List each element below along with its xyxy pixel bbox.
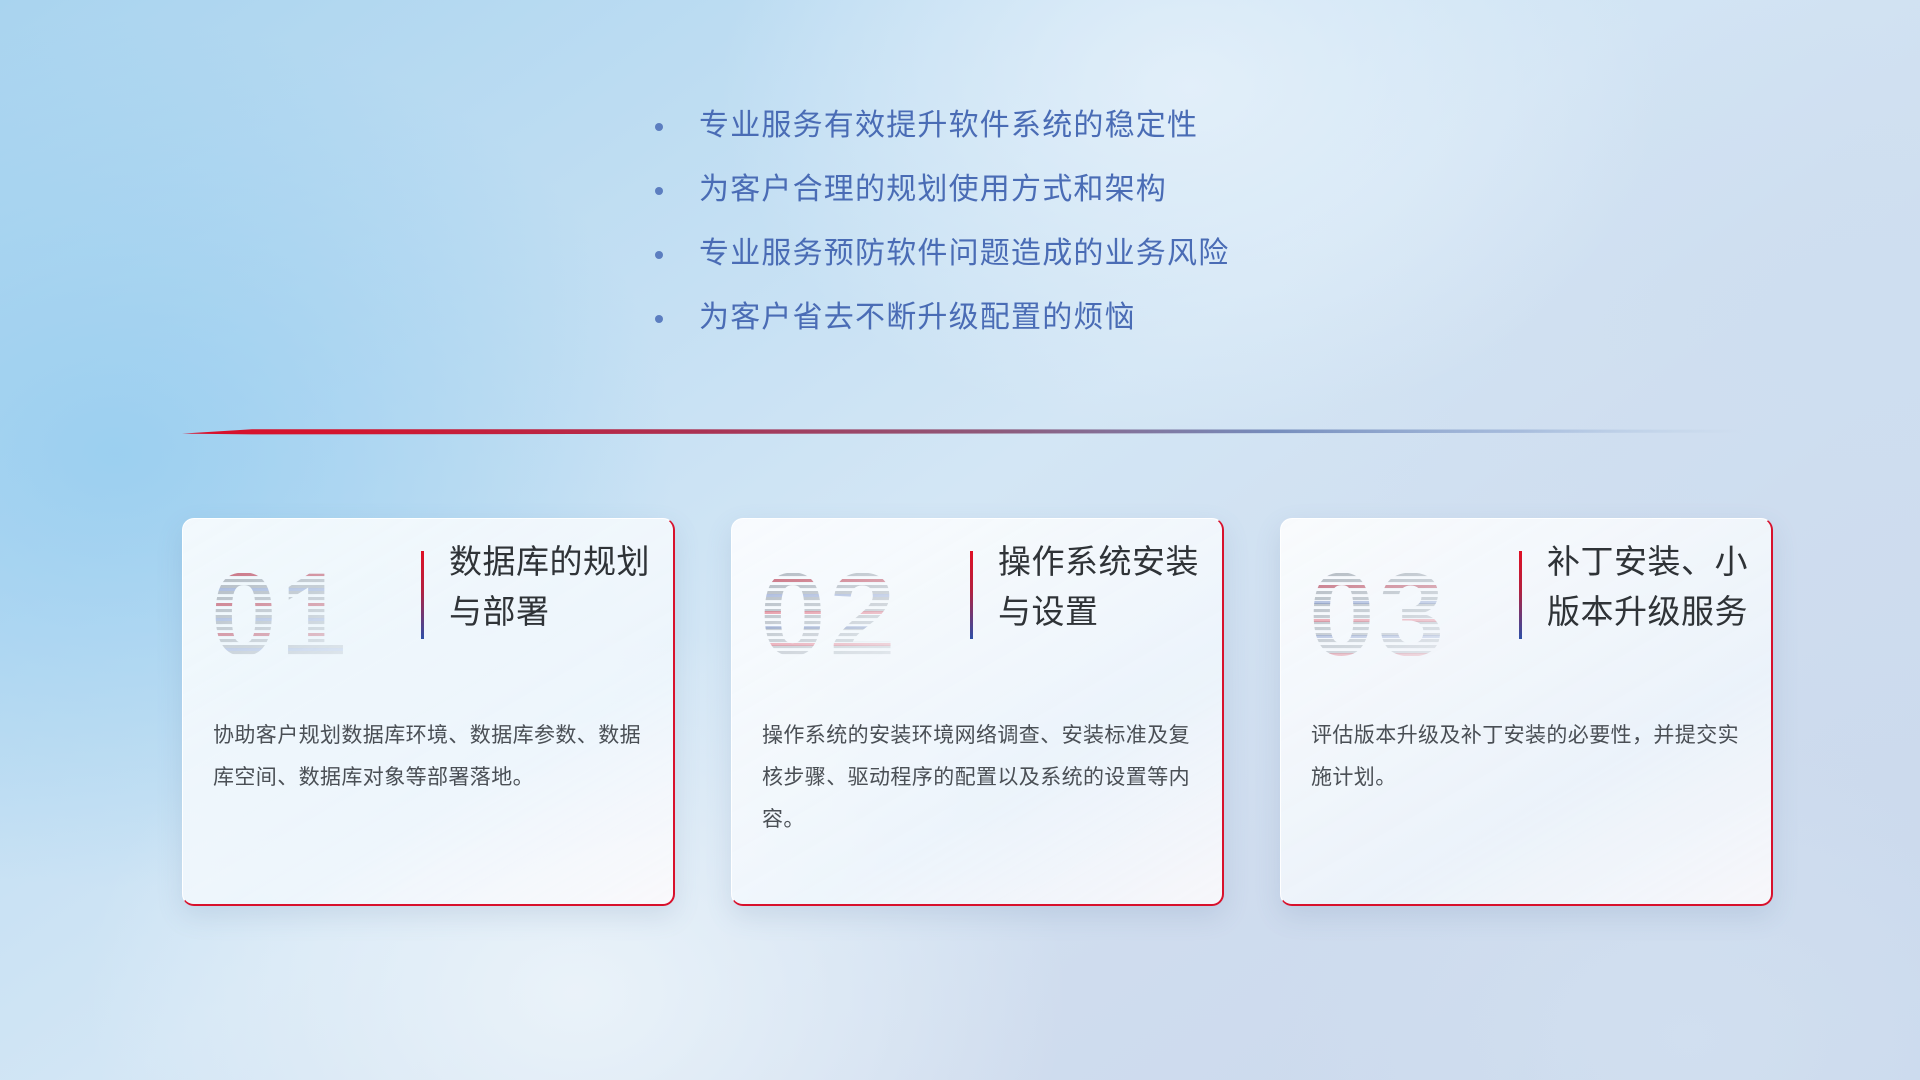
card-number-02-icon: 02 02 xyxy=(758,543,948,673)
bullet-item: 专业服务有效提升软件系统的稳定性 xyxy=(655,106,1415,146)
bullet-list: 专业服务有效提升软件系统的稳定性 为客户合理的规划使用方式和架构 专业服务预防软… xyxy=(655,106,1415,362)
bullet-dot-icon xyxy=(655,187,663,195)
bullet-text: 为客户省去不断升级配置的烦恼 xyxy=(699,298,1136,338)
card-header: 02 02 操作系统安装与设置 xyxy=(732,519,1222,695)
card-02[interactable]: 02 02 操作系统安装与设置 操作系统的安装环境网络调查、安装标准及复核步骤、… xyxy=(731,518,1224,906)
card-title: 补丁安装、小版本升级服务 xyxy=(1547,537,1755,637)
svg-text:03: 03 xyxy=(1309,549,1448,673)
card-accent-bar xyxy=(970,551,973,639)
card-accent-bar xyxy=(421,551,424,639)
bullet-dot-icon xyxy=(655,123,663,131)
card-body-text: 操作系统的安装环境网络调查、安装标准及复核步骤、驱动程序的配置以及系统的设置等内… xyxy=(762,715,1192,841)
section-divider xyxy=(182,424,1742,438)
card-body-text: 评估版本升级及补丁安装的必要性，并提交实施计划。 xyxy=(1311,715,1741,799)
card-title: 数据库的规划与部署 xyxy=(449,537,657,637)
card-title: 操作系统安装与设置 xyxy=(998,537,1206,637)
card-header: 03 03 补丁安装、小版本升级服务 xyxy=(1281,519,1771,695)
card-header: 01 01 数据库的规划与部署 xyxy=(183,519,673,695)
svg-text:02: 02 xyxy=(760,549,899,673)
card-body-text: 协助客户规划数据库环境、数据库参数、数据库空间、数据库对象等部署落地。 xyxy=(213,715,643,799)
bullet-text: 专业服务预防软件问题造成的业务风险 xyxy=(699,234,1229,274)
bullet-item: 为客户省去不断升级配置的烦恼 xyxy=(655,298,1415,338)
svg-text:01: 01 xyxy=(211,549,350,673)
bullet-text: 为客户合理的规划使用方式和架构 xyxy=(699,170,1167,210)
card-row: 01 01 数据库的规划与部署 协助客户规划数据库环境、数据库参数、数据库空间、… xyxy=(182,518,1774,906)
divider-wedge-icon xyxy=(182,424,1742,438)
bullet-text: 专业服务有效提升软件系统的稳定性 xyxy=(699,106,1198,146)
card-number-01-icon: 01 01 xyxy=(209,543,399,673)
card-accent-bar xyxy=(1519,551,1522,639)
bullet-dot-icon xyxy=(655,315,663,323)
bullet-dot-icon xyxy=(655,251,663,259)
card-03[interactable]: 03 03 补丁安装、小版本升级服务 评估版本升级及补丁安装的必要性，并提交实施… xyxy=(1280,518,1773,906)
card-number-03-icon: 03 03 xyxy=(1307,543,1497,673)
card-01[interactable]: 01 01 数据库的规划与部署 协助客户规划数据库环境、数据库参数、数据库空间、… xyxy=(182,518,675,906)
bullet-item: 为客户合理的规划使用方式和架构 xyxy=(655,170,1415,210)
bullet-item: 专业服务预防软件问题造成的业务风险 xyxy=(655,234,1415,274)
slide-canvas: 专业服务有效提升软件系统的稳定性 为客户合理的规划使用方式和架构 专业服务预防软… xyxy=(0,0,1920,1080)
